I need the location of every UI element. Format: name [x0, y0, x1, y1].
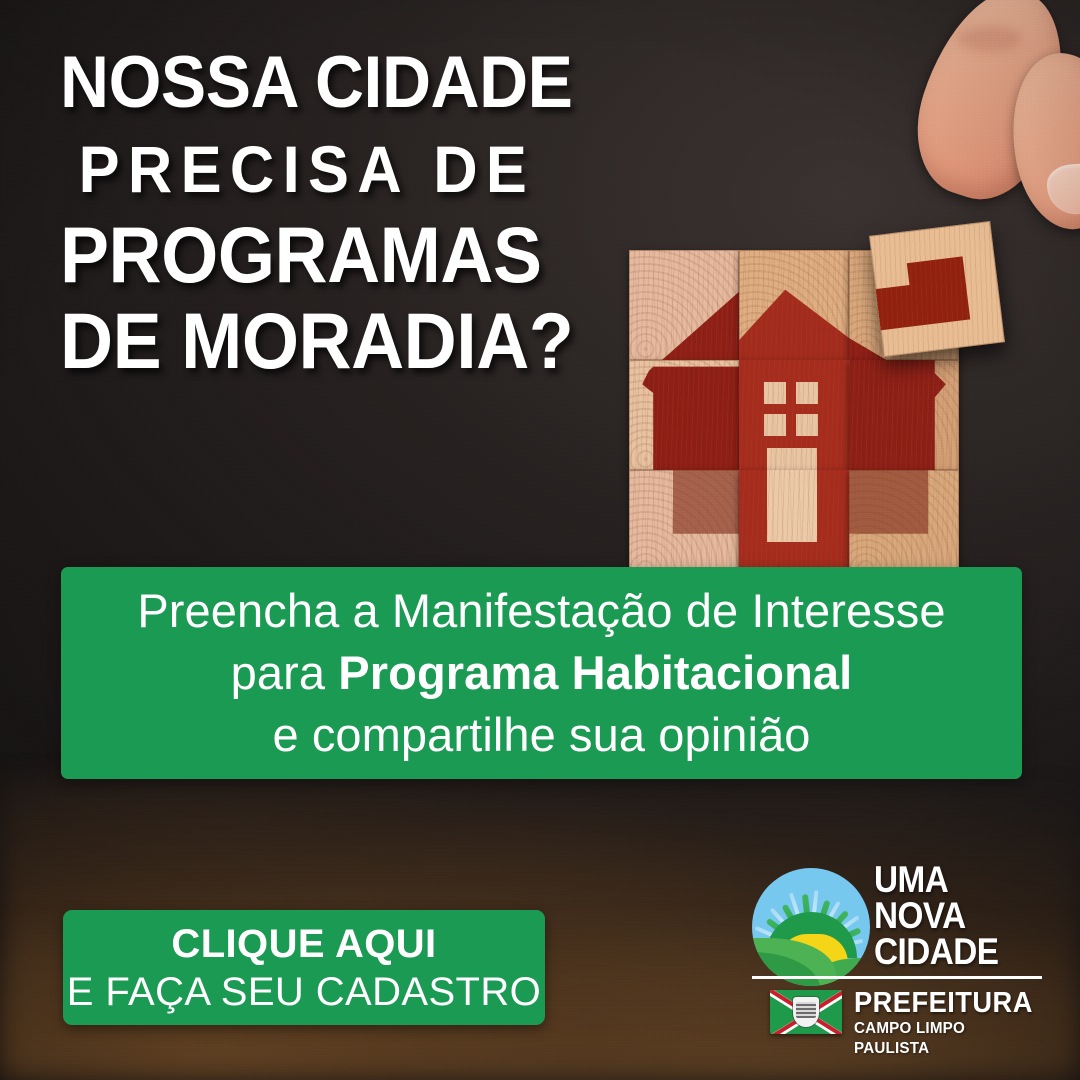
- municipal-flag-icon: [770, 990, 842, 1034]
- banner-line-1: Preencha a Manifestação de Interesse: [137, 580, 945, 642]
- cta-line-1: CLIQUE AQUI: [171, 920, 436, 968]
- cta-line-2: E FAÇA SEU CADASTRO: [67, 968, 541, 1016]
- municipality-label: CAMPO LIMPO PAULISTA: [854, 1019, 1044, 1059]
- headline-line-1: NOSSA CIDADE: [60, 40, 637, 126]
- prefeitura-label: PREFEITURA: [854, 988, 1042, 1019]
- banner-line-2: para Programa Habitacional: [231, 642, 853, 704]
- headline-line-3: PROGRAMAS: [60, 212, 637, 298]
- logo-word-cidade: CIDADE: [874, 934, 1036, 970]
- brand-logo: UMA NOVA CIDADE PREFEITURA CAMPO LIMPO P…: [752, 866, 1052, 1036]
- headline-line-2: PRECISA DE: [60, 126, 637, 212]
- logo-word-nova: NOVA: [874, 898, 1036, 934]
- banner-line-2-prefix: para: [231, 646, 339, 699]
- banner-line-2-emphasis: Programa Habitacional: [338, 646, 852, 699]
- info-banner: Preencha a Manifestação de Interesse par…: [61, 567, 1022, 779]
- headline: NOSSA CIDADE PRECISA DE PROGRAMAS DE MOR…: [60, 40, 680, 384]
- cliquei-aqui-cta-button[interactable]: CLIQUE AQUI E FAÇA SEU CADASTRO: [63, 910, 545, 1025]
- banner-line-3: e compartilhe sua opinião: [272, 704, 810, 766]
- prefeitura-words: PREFEITURA CAMPO LIMPO PAULISTA: [854, 988, 1054, 1059]
- prefeitura-lockup: PREFEITURA CAMPO LIMPO PAULISTA: [770, 988, 1052, 1036]
- logo-divider: [752, 976, 1042, 979]
- headline-line-4: DE MORADIA?: [60, 298, 637, 384]
- logo-word-uma: UMA: [874, 862, 1036, 898]
- logo-wordmark: UMA NOVA CIDADE: [874, 862, 1054, 970]
- poster-canvas: NOSSA CIDADE PRECISA DE PROGRAMAS DE MOR…: [0, 0, 1080, 1080]
- sunrise-landscape-icon: [752, 868, 870, 986]
